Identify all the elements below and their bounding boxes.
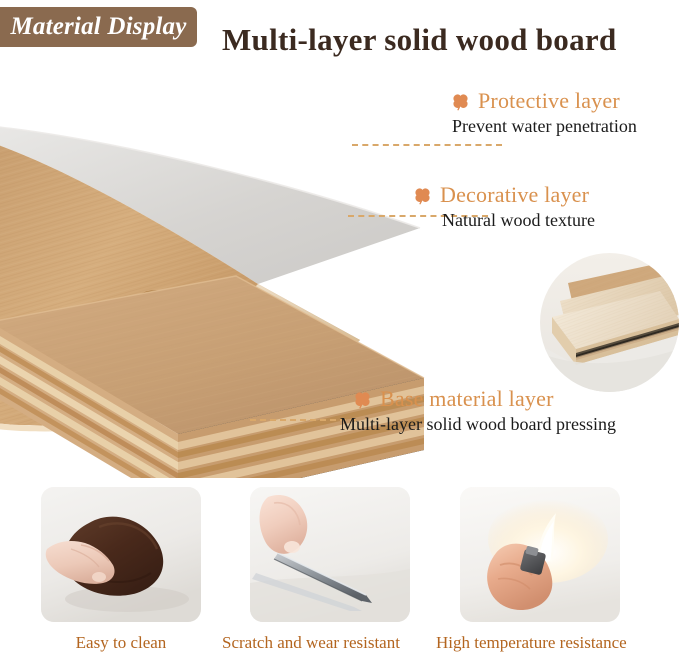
feature-card: High temperature resistance: [460, 487, 620, 653]
blade-scratching-surface-photo: [250, 487, 410, 622]
page-title: Multi-layer solid wood board: [222, 22, 617, 58]
callout-title: Protective layer: [478, 88, 620, 114]
callout-decorative-layer: Decorative layer Natural wood texture: [412, 182, 595, 231]
feature-caption: High temperature resistance: [436, 633, 620, 653]
callout-protective-layer: Protective layer Prevent water penetrati…: [450, 88, 637, 137]
feature-caption: Scratch and wear resistant: [222, 633, 410, 653]
material-display-badge: Material Display: [0, 7, 197, 47]
hand-wiping-cloth-photo: [41, 487, 201, 622]
feature-card: Scratch and wear resistant: [250, 487, 410, 653]
callout-title: Base material layer: [380, 386, 554, 412]
connector-dash-protective: [352, 144, 502, 146]
callout-subtitle: Prevent water penetration: [452, 116, 637, 137]
clover-icon: [412, 185, 433, 206]
callout-base-material-layer: Base material layer Multi-layer solid wo…: [352, 386, 616, 435]
clover-icon: [352, 389, 373, 410]
badge-label: Material Display: [10, 13, 186, 41]
callout-head: Protective layer: [450, 88, 637, 114]
callout-head: Decorative layer: [412, 182, 595, 208]
callout-subtitle: Multi-layer solid wood board pressing: [340, 414, 616, 435]
callout-subtitle: Natural wood texture: [442, 210, 595, 231]
infographic-page: Material Display Multi-layer solid wood …: [0, 0, 679, 669]
lighter-flame-on-surface-photo: [460, 487, 620, 622]
feature-cards: Easy to clean: [0, 487, 679, 669]
feature-card: Easy to clean: [41, 487, 201, 653]
clover-icon: [450, 91, 471, 112]
stacked-plywood-photo: [540, 253, 679, 392]
feature-caption: Easy to clean: [41, 633, 201, 653]
callout-head: Base material layer: [352, 386, 616, 412]
callout-title: Decorative layer: [440, 182, 589, 208]
